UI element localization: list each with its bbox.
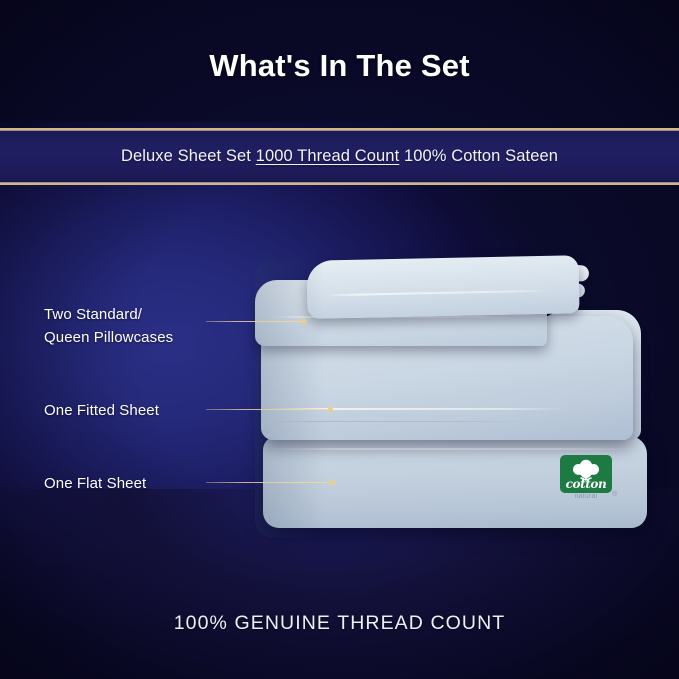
subtitle-thread-count: 1000 Thread Count: [256, 147, 400, 165]
leader-line-fitted-sheet: [206, 409, 332, 410]
callout-pillowcases-line2: Queen Pillowcases: [44, 326, 173, 349]
leader-dot-flat-sheet: [330, 480, 335, 485]
footer-tagline: 100% GENUINE THREAD COUNT: [0, 612, 679, 635]
seal-caption: natural: [560, 493, 612, 500]
callout-flat-sheet: One Flat Sheet: [44, 472, 146, 495]
subtitle-band: Deluxe Sheet Set 1000 Thread Count 100% …: [0, 128, 679, 185]
cotton-boll-icon: cotton: [560, 455, 612, 493]
cotton-natural-seal: cotton natural ®: [560, 455, 612, 503]
callout-pillowcases-line1: Two Standard/: [44, 303, 173, 326]
callout-fitted-sheet: One Fitted Sheet: [44, 399, 159, 422]
infographic-canvas: What's In The Set Deluxe Sheet Set 1000 …: [0, 0, 679, 679]
fitted-sheet-hem-secondary: [269, 421, 531, 422]
callout-pillowcases: Two Standard/ Queen Pillowcases: [44, 303, 173, 350]
page-title: What's In The Set: [0, 48, 679, 84]
leader-dot-fitted-sheet: [328, 407, 333, 412]
callout-fitted-sheet-line1: One Fitted Sheet: [44, 399, 159, 422]
subtitle-suffix: 100% Cotton Sateen: [399, 147, 558, 165]
subtitle-prefix: Deluxe Sheet Set: [121, 147, 256, 165]
pillowcase-upper: [306, 255, 579, 319]
subtitle-text: Deluxe Sheet Set 1000 Thread Count 100% …: [121, 147, 558, 166]
leader-line-pillowcases: [206, 321, 306, 322]
seal-registered-mark: ®: [612, 491, 617, 498]
seal-brand-text: cotton: [566, 477, 607, 491]
leader-dot-pillowcases: [301, 319, 306, 324]
leader-line-flat-sheet: [206, 482, 334, 483]
flat-sheet-hem: [265, 448, 633, 450]
callout-flat-sheet-line1: One Flat Sheet: [44, 472, 146, 495]
